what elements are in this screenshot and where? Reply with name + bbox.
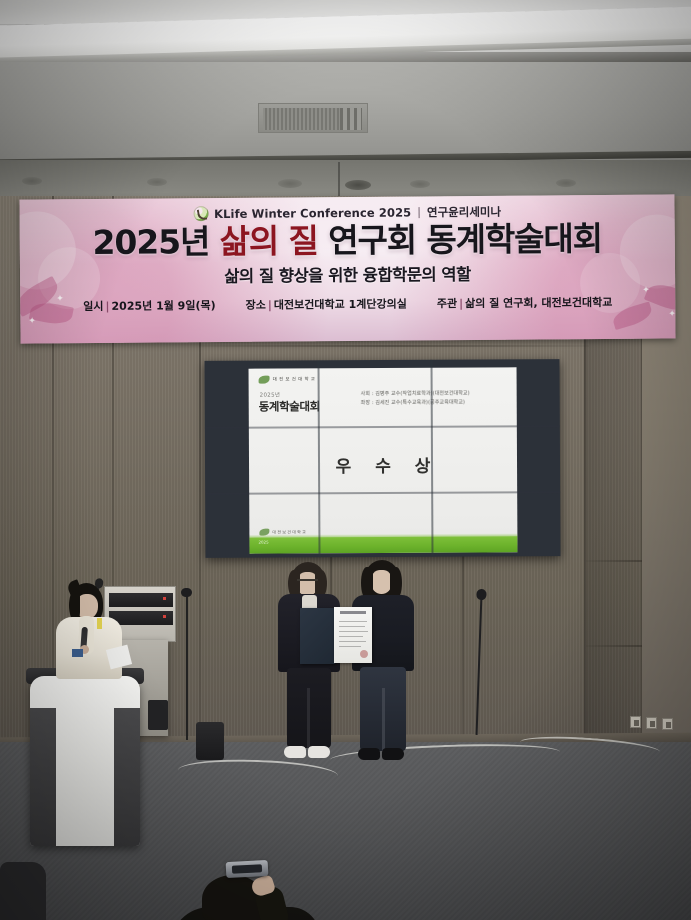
- slide-year-label: 2025년: [260, 391, 281, 399]
- slide-recipient-line: 좌장 : 김세진 교수(특수교육과)(공주교육대학교): [361, 398, 511, 408]
- banner-eyebrow-korean: 연구윤리세미나: [427, 203, 501, 220]
- wall-panel-seam: [199, 340, 201, 740]
- certificate-text-line: [339, 636, 363, 637]
- slide-org-wordmark: 대 전 보 건 대 학 교: [273, 376, 316, 382]
- recipient-shoe: [382, 748, 404, 760]
- slide-event-title: 동계학술대회: [259, 398, 320, 414]
- presentation-slide: 대 전 보 건 대 학 교 2025년 동계학술대회 사회 : 김병주 교수(작…: [249, 367, 518, 553]
- presenter-shoe: [284, 746, 306, 758]
- foreground-object: [0, 862, 46, 920]
- banner-main-title: 2025년 삶의 질 연구회 동계학술대회: [20, 220, 675, 261]
- slide-award-title: 우 수 상: [249, 451, 517, 477]
- eyeglasses-icon: [297, 579, 318, 585]
- audience-photographer: [170, 855, 320, 920]
- banner-eyebrow-english: KLife Winter Conference 2025: [214, 205, 411, 221]
- banner-subtitle: 삶의 질 향상을 위한 융합학문의 역할: [20, 259, 675, 288]
- certificate-text-line: [339, 621, 367, 622]
- klife-flower-logo-icon: [193, 206, 208, 221]
- presenter-leg-gap: [307, 688, 310, 748]
- award-presenter: [278, 562, 340, 767]
- rack-power-led: [163, 615, 166, 618]
- recipient-shoe: [358, 748, 380, 760]
- banner-title-highlight: 삶의 질: [220, 221, 329, 261]
- power-outlet[interactable]: [662, 718, 673, 730]
- power-outlet[interactable]: [646, 717, 657, 729]
- award-recipient: [352, 560, 414, 770]
- conference-banner: ✦ ✦ ✦ ✦ KLife Winter Conference 2025 | 연…: [19, 194, 675, 343]
- podium-right-panel: [114, 708, 140, 846]
- daejeon-health-university-logo-icon: [259, 376, 270, 384]
- downlight-icon: [278, 179, 302, 188]
- certificate-text-line: [339, 641, 366, 642]
- banner-meta-place: 장소|대전보건대학교 1계단강의실: [246, 295, 407, 312]
- downlight-icon: [22, 177, 42, 185]
- banner-sparkle-icon: ✦: [28, 317, 36, 326]
- downlight-icon: [410, 180, 430, 188]
- banner-meta-host: 주관|삶의 질 연구회, 대전보건대학교: [437, 294, 613, 311]
- presenter-shoe: [308, 746, 330, 758]
- banner-sparkle-icon: ✦: [668, 310, 675, 319]
- wall-panel-seam: [462, 556, 464, 741]
- certificate-heading-mark: [340, 611, 366, 614]
- video-wall-display[interactable]: 대 전 보 건 대 학 교 2025년 동계학술대회 사회 : 김병주 교수(작…: [204, 359, 560, 558]
- power-outlet[interactable]: [630, 716, 641, 728]
- speaker-name-badge: [72, 649, 83, 657]
- certificate-text-line: [339, 646, 361, 647]
- smartphone-camera[interactable]: [226, 860, 269, 878]
- downlight-icon: [345, 180, 371, 190]
- recipient-face: [371, 570, 392, 594]
- photo-scene: ✦ ✦ ✦ ✦ KLife Winter Conference 2025 | 연…: [0, 0, 691, 920]
- floor-speaker-box: [196, 722, 224, 760]
- rack-power-led: [163, 597, 166, 600]
- slide-org-logo: 대 전 보 건 대 학 교: [259, 375, 316, 383]
- slide-green-accent-bar: 2025: [249, 536, 517, 553]
- podium-left-panel: [30, 708, 56, 846]
- banner-title-year: 2025년: [92, 222, 219, 262]
- presenter-at-podium: [52, 583, 126, 693]
- award-certificate-folder: [300, 608, 372, 664]
- wall-panel-seam: [199, 345, 589, 347]
- banner-meta-date: 일시|2025년 1월 9일(목): [83, 297, 216, 314]
- slide-recipient-block: 사회 : 김병주 교수(작업치료학과)(대전보건대학교) 좌장 : 김세진 교수…: [361, 389, 511, 407]
- speaker-ribbon: [97, 618, 102, 629]
- floor-speaker-box: [148, 700, 168, 730]
- banner-title-rest: 연구회 동계학술대회: [328, 219, 602, 260]
- podium: [30, 676, 140, 854]
- vent-grille: [263, 108, 341, 130]
- certificate-cover: [300, 608, 335, 664]
- downlight-icon: [147, 178, 167, 186]
- downlight-icon: [556, 179, 576, 187]
- banner-eyebrow-divider: |: [417, 205, 421, 218]
- microphone-stand: [186, 590, 188, 740]
- ceiling-air-vent: [258, 103, 368, 133]
- recipient-leg-gap: [382, 688, 385, 751]
- certificate-text-line: [339, 626, 365, 627]
- banner-meta-row: 일시|2025년 1월 9일(목) 장소|대전보건대학교 1계단강의실 주관|삶…: [20, 293, 675, 314]
- certificate-page: [334, 607, 372, 663]
- certificate-seal-icon: [360, 650, 368, 658]
- slide-footer-bar-label: 2025: [258, 540, 268, 545]
- vent-slots: [340, 108, 362, 130]
- certificate-text-line: [339, 631, 368, 632]
